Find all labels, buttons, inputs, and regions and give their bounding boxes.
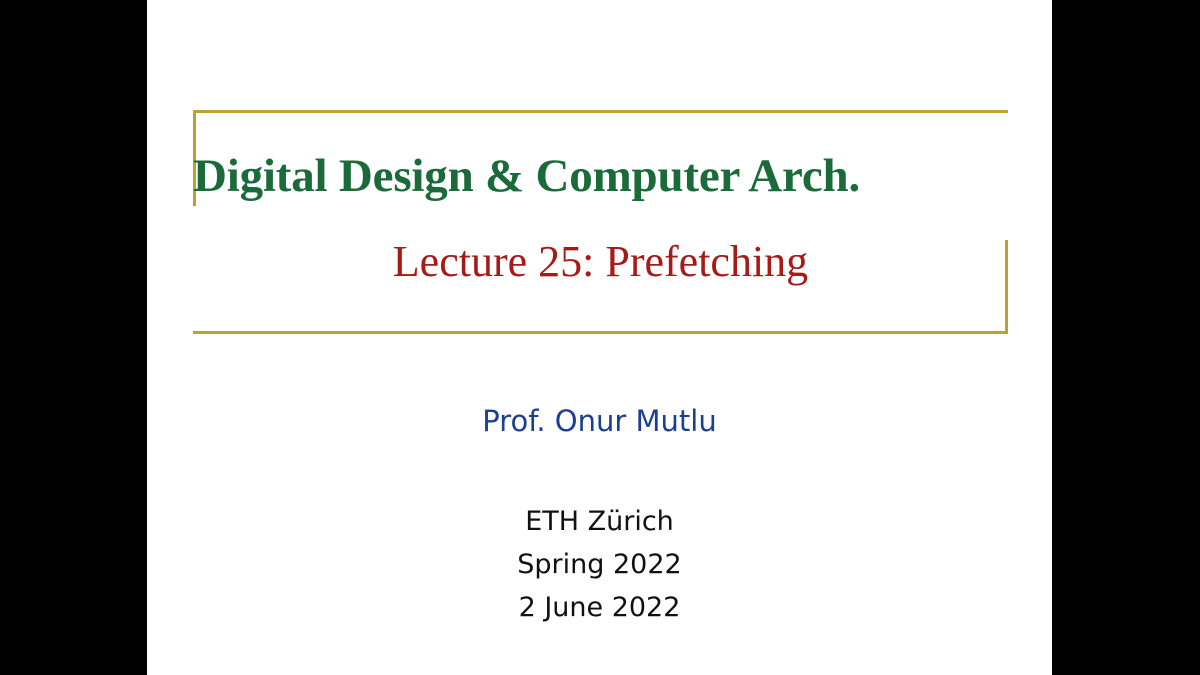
slide-viewer: Digital Design & Computer Arch. Lecture … [0, 0, 1200, 675]
lecture-title: Lecture 25: Prefetching [193, 239, 1008, 285]
affiliation-date: 2 June 2022 [147, 586, 1052, 629]
decorative-frame-top-line [193, 110, 1008, 113]
affiliation-institution: ETH Zürich [147, 500, 1052, 543]
letterbox-bar-left [0, 0, 147, 675]
presenter-name: Prof. Onur Mutlu [147, 404, 1052, 438]
decorative-frame-bottom-line [193, 331, 1008, 334]
course-title: Digital Design & Computer Arch. [193, 152, 1008, 201]
affiliation-term: Spring 2022 [147, 543, 1052, 586]
affiliation-block: ETH Zürich Spring 2022 2 June 2022 [147, 500, 1052, 629]
presentation-slide: Digital Design & Computer Arch. Lecture … [147, 0, 1052, 675]
letterbox-bar-right [1052, 0, 1200, 675]
